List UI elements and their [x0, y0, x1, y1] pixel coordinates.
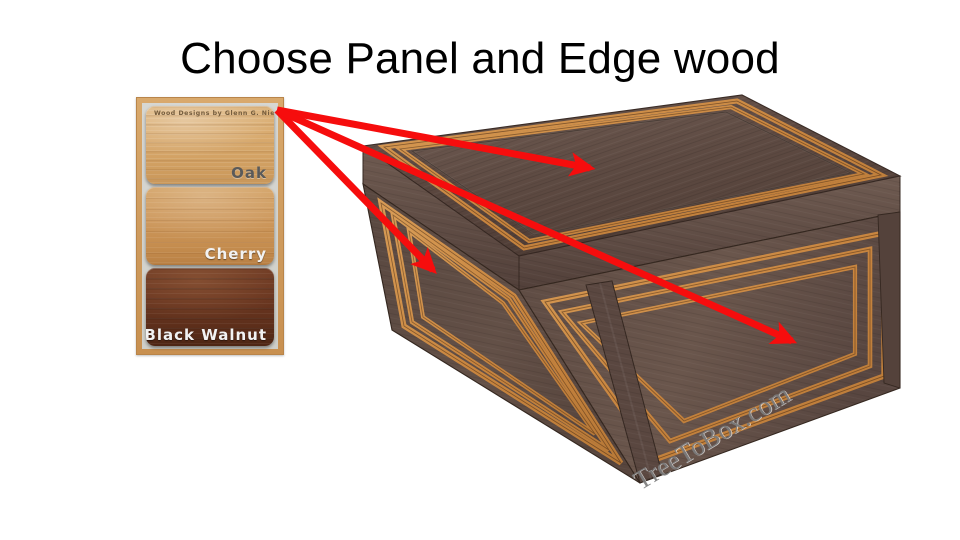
- wooden-box-illustration: [0, 0, 960, 540]
- slide-canvas: Choose Panel and Edge wood Wood Designs …: [0, 0, 960, 540]
